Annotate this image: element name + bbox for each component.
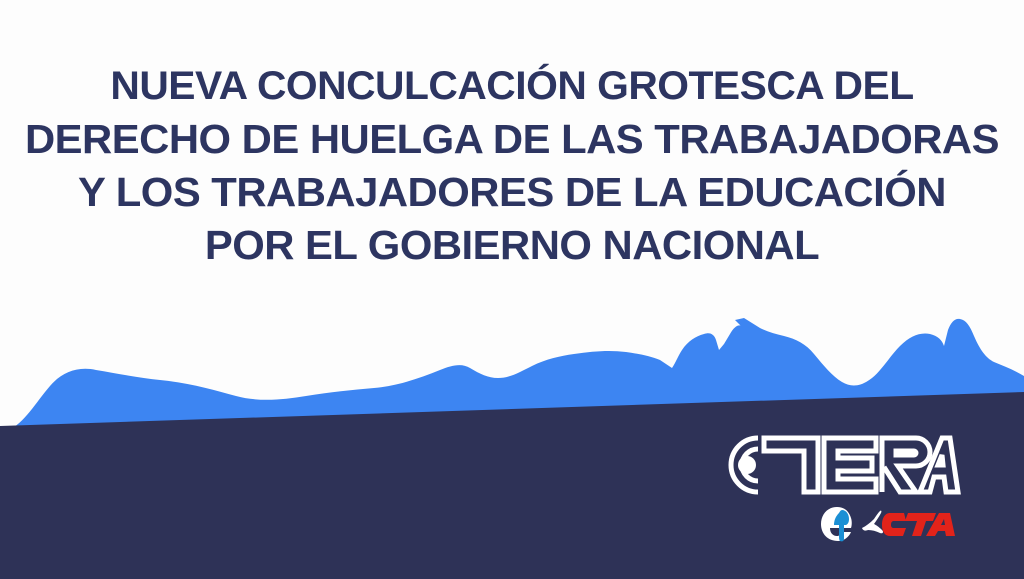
ctera-emblem-icon — [820, 505, 854, 543]
headline-line-2: DERECHO DE HUELGA DE LAS TRABAJADORAS — [0, 113, 1024, 166]
page-title: NUEVA CONCULCACIÓN GROTESCA DEL DERECHO … — [0, 60, 1024, 272]
cta-figure-icon — [862, 511, 883, 534]
ctera-letter-t — [764, 438, 818, 492]
sub-logos-row — [820, 505, 956, 543]
logo-block — [700, 425, 980, 570]
headline-line-1: NUEVA CONCULCACIÓN GROTESCA DEL — [0, 60, 1024, 113]
ctera-emblem-e-stem — [839, 518, 844, 541]
cta-logo — [860, 506, 956, 542]
ctera-c-center-dot — [738, 456, 756, 474]
headline-line-3: Y LOS TRABAJADORES DE LA EDUCACIÓN — [0, 166, 1024, 219]
ctera-letter-e — [824, 438, 876, 492]
poster-canvas: NUEVA CONCULCACIÓN GROTESCA DEL DERECHO … — [0, 0, 1024, 579]
headline-line-4: POR EL GOBIERNO NACIONAL — [0, 219, 1024, 272]
cta-wordmark — [882, 513, 955, 536]
ctera-logo — [700, 425, 962, 505]
